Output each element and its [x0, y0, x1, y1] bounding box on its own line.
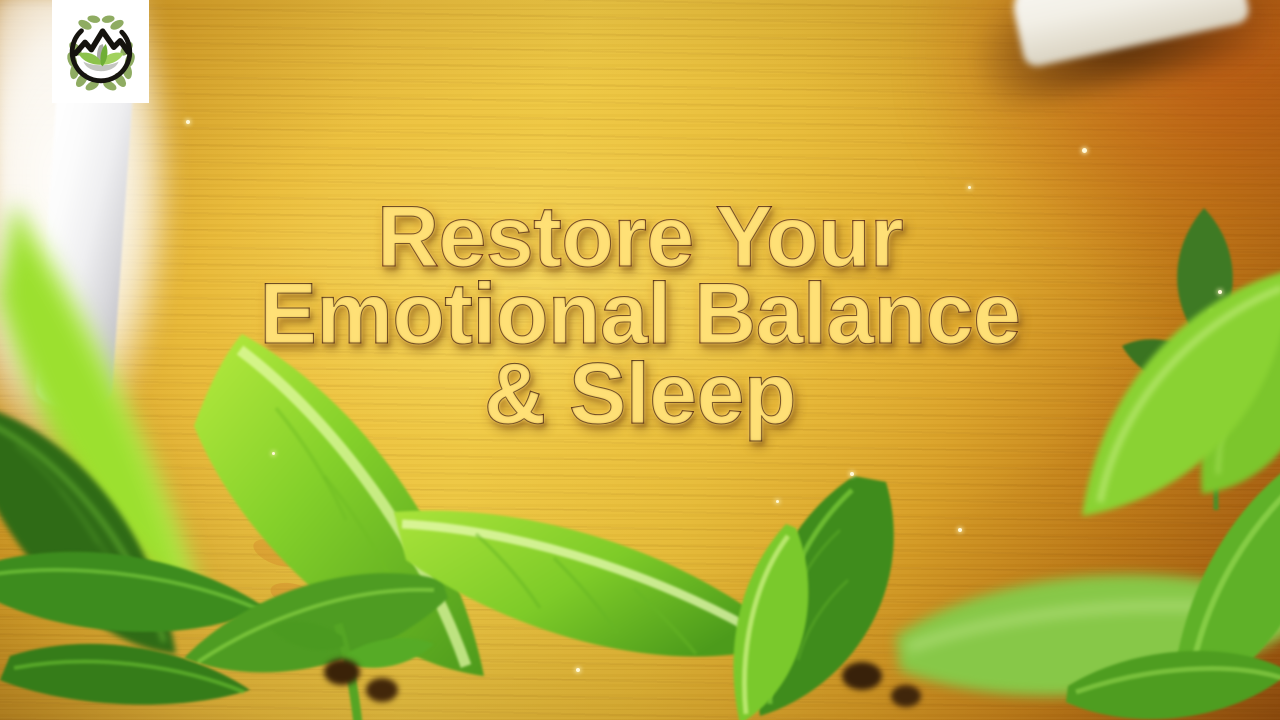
sparkle-icon: [776, 500, 779, 503]
background-vignette: [0, 0, 1280, 720]
sparkle-icon: [272, 452, 275, 455]
brand-logo-icon: [61, 12, 141, 92]
sparkle-icon: [576, 668, 580, 672]
sparkle-icon: [968, 186, 971, 189]
sparkle-icon: [186, 120, 190, 124]
sparkle-icon: [958, 528, 962, 532]
sparkle-icon: [1218, 290, 1222, 294]
title-card-stage: Restore Your Emotional Balance & Sleep: [0, 0, 1280, 720]
sparkle-icon: [850, 472, 854, 476]
brand-logo-badge[interactable]: [52, 0, 149, 103]
sparkle-icon: [1082, 148, 1087, 153]
